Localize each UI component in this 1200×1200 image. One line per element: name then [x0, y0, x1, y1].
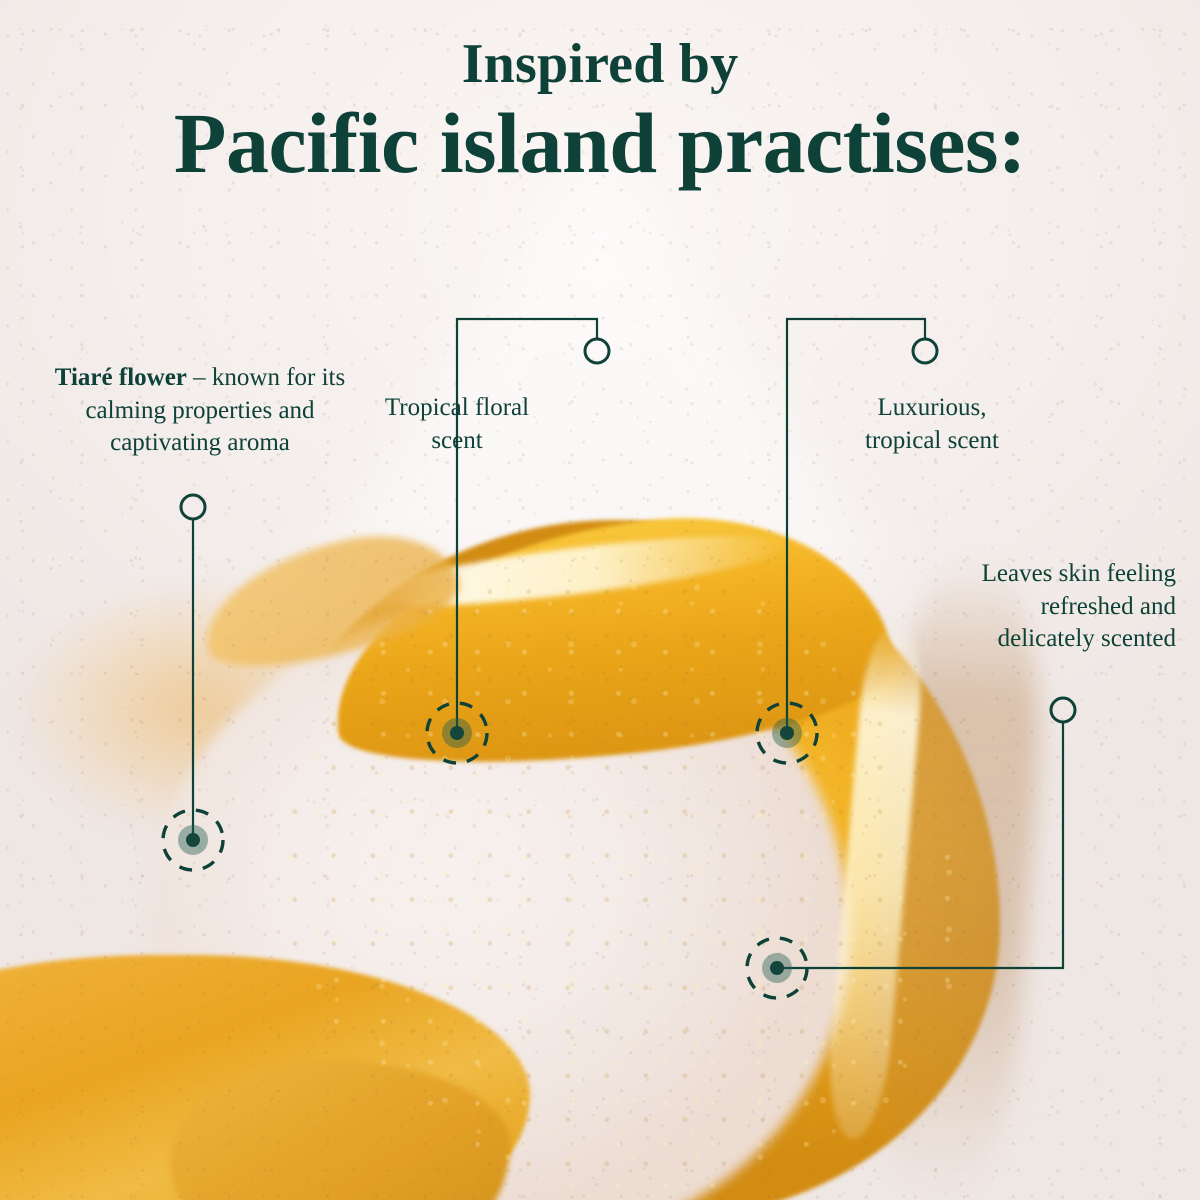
callout-tiare-line-1-rest: – known for its: [187, 364, 345, 391]
callout-leaves-line-3: delicately scented: [776, 623, 1176, 656]
callout-tropical-line-2: scent: [317, 425, 597, 458]
callout-label-luxurious-tropical-scent: Luxurious, tropical scent: [792, 392, 1072, 457]
headline-line-1: Inspired by: [0, 36, 1200, 92]
callout-luxurious-line-1: Luxurious,: [792, 392, 1072, 425]
callout-tiare-line-1: Tiaré flower – known for its: [20, 362, 380, 395]
callout-tiare-bold: Tiaré flower: [55, 364, 187, 391]
callout-label-leaves-skin-refreshed: Leaves skin feeling refreshed and delica…: [776, 558, 1176, 656]
page-title: Inspired by Pacific island practises:: [0, 36, 1200, 186]
callout-label-tropical-floral-scent: Tropical floral scent: [317, 392, 597, 457]
callout-leaves-line-1: Leaves skin feeling: [776, 558, 1176, 591]
callout-luxurious-line-2: tropical scent: [792, 425, 1072, 458]
callout-tropical-line-1: Tropical floral: [317, 392, 597, 425]
infographic-canvas: Inspired by Pacific island practises:: [0, 0, 1200, 1200]
headline-line-2: Pacific island practises:: [0, 100, 1200, 186]
callout-leaves-line-2: refreshed and: [776, 591, 1176, 624]
